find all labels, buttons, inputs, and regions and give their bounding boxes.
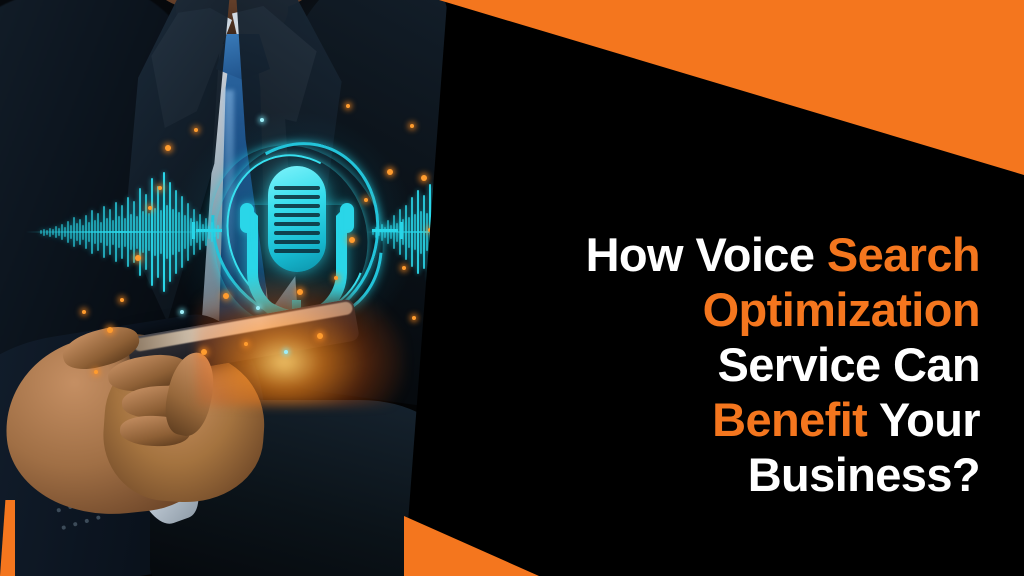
page-title-text: Your <box>867 393 980 446</box>
waveform-bar <box>154 208 156 256</box>
spark-particle <box>284 350 288 354</box>
waveform-bar <box>58 228 60 236</box>
waveform-bar <box>64 227 66 237</box>
waveform-bar <box>381 224 383 241</box>
waveform-bar <box>70 225 72 239</box>
waveform-bar <box>46 230 48 235</box>
spark-particle <box>402 266 406 270</box>
page-title-line-3: Service Can <box>420 338 980 393</box>
waveform-bar <box>115 202 117 262</box>
waveform-bar <box>178 212 180 252</box>
spark-particle <box>256 306 260 310</box>
waveform-bar <box>67 221 69 243</box>
waveform-bar <box>390 225 392 239</box>
spark-particle <box>346 104 350 108</box>
page-title-text: Business? <box>748 448 980 501</box>
waveform-bar <box>181 196 183 268</box>
waveform-bar <box>208 226 210 239</box>
waveform-bar <box>214 228 216 237</box>
waveform-bar <box>52 229 54 235</box>
waveform-bar <box>408 217 410 248</box>
page-title-line-2: Optimization <box>420 283 980 338</box>
audio-waveform-left <box>40 172 219 292</box>
spark-particle <box>201 349 207 355</box>
waveform-bar <box>169 182 171 282</box>
microphone-grill-bar <box>274 213 320 217</box>
spark-particle <box>410 124 414 128</box>
waveform-bar <box>73 217 75 247</box>
waveform-bar <box>49 228 51 237</box>
waveform-bar <box>193 209 195 255</box>
microphone-grill-bar <box>274 195 320 199</box>
waveform-bar <box>139 188 141 276</box>
waveform-bar <box>97 213 99 251</box>
waveform-bar <box>121 205 123 259</box>
waveform-bar <box>85 215 87 249</box>
orange-diagonal-top <box>439 0 1024 175</box>
spark-particle <box>317 333 323 339</box>
waveform-bar <box>417 190 419 274</box>
page-title: How Voice SearchOptimizationService CanB… <box>420 228 980 503</box>
waveform-bar <box>142 211 144 253</box>
waveform-bar <box>375 227 377 238</box>
spark-particle <box>412 316 416 320</box>
waveform-bar <box>94 220 96 244</box>
waveform-bar <box>157 186 159 278</box>
spark-particle <box>165 145 171 151</box>
waveform-bar <box>130 214 132 250</box>
page-title-line-5: Business? <box>420 448 980 503</box>
page-title-line-1: How Voice Search <box>420 228 980 283</box>
waveform-bar <box>372 229 374 235</box>
waveform-bar <box>393 215 395 249</box>
waveform-bar <box>109 209 111 255</box>
waveform-bar <box>91 210 93 254</box>
waveform-bar <box>202 224 204 241</box>
spark-particle <box>364 198 368 202</box>
waveform-bar <box>387 220 389 244</box>
microphone-grill-bar <box>274 249 320 253</box>
microphone-grill-bar <box>274 186 320 190</box>
waveform-bar <box>196 221 198 243</box>
spark-particle <box>421 175 427 181</box>
microphone-icon-post-right <box>340 203 354 233</box>
waveform-bar <box>133 201 135 263</box>
waveform-bar <box>124 218 126 247</box>
spark-particle <box>82 310 86 314</box>
waveform-bar <box>76 223 78 241</box>
spark-particle <box>297 289 303 295</box>
spark-particle <box>148 206 152 210</box>
spark-particle <box>107 327 113 333</box>
spark-particle <box>349 237 355 243</box>
page-title-text: How Voice <box>586 228 827 281</box>
waveform-bar <box>184 215 186 249</box>
waveform-bar <box>145 194 147 270</box>
waveform-bar <box>40 230 42 234</box>
waveform-bar <box>148 213 150 251</box>
spark-particle <box>387 169 393 175</box>
spark-particle <box>223 293 229 299</box>
spark-particle <box>260 118 264 122</box>
waveform-bar <box>136 216 138 249</box>
spark-particle <box>244 342 248 346</box>
waveform-bar <box>414 214 416 250</box>
microphone-grill-bar <box>274 204 320 208</box>
waveform-bar <box>190 218 192 246</box>
page-title-highlight: Optimization <box>703 283 980 336</box>
page-title-highlight: Benefit <box>712 393 867 446</box>
microphone-icon-grill <box>274 186 320 258</box>
waveform-bar <box>396 223 398 242</box>
waveform-bar <box>166 205 168 259</box>
waveform-bar <box>199 214 201 250</box>
waveform-bar <box>160 210 162 254</box>
waveform-bar <box>88 222 90 242</box>
waveform-bar <box>118 216 120 248</box>
waveform-bar <box>163 172 165 292</box>
waveform-bar <box>100 222 102 243</box>
hero-photo <box>0 0 470 576</box>
microphone-grill-bar <box>274 231 320 235</box>
banner: How Voice SearchOptimizationService CanB… <box>0 0 1024 576</box>
spark-particle <box>135 255 141 261</box>
microphone-grill-bar <box>274 222 320 226</box>
waveform-bar <box>405 205 407 260</box>
waveform-bar <box>175 190 177 274</box>
spark-particle <box>158 186 162 190</box>
waveform-bar <box>399 209 401 255</box>
waveform-bar <box>61 224 63 240</box>
page-title-line-4: Benefit Your <box>420 393 980 448</box>
spark-particle <box>180 310 184 314</box>
spark-particle <box>94 370 98 374</box>
waveform-bar <box>384 227 386 238</box>
waveform-bar <box>211 222 213 242</box>
waveform-bar <box>79 219 81 245</box>
spark-particle <box>334 276 338 280</box>
waveform-bar <box>402 219 404 245</box>
microphone-icon-post-left <box>240 203 254 233</box>
waveform-bar <box>55 226 57 238</box>
waveform-bar <box>217 225 219 239</box>
waveform-bar <box>187 203 189 261</box>
waveform-bar <box>106 218 108 246</box>
spark-particle <box>194 128 198 132</box>
waveform-bar <box>378 229 380 236</box>
waveform-bar <box>112 220 114 245</box>
waveform-bar <box>103 206 105 258</box>
spark-particle <box>120 298 124 302</box>
page-title-text: Service Can <box>717 338 980 391</box>
waveform-bar <box>172 209 174 255</box>
waveform-bar <box>151 178 153 286</box>
waveform-bar <box>127 197 129 267</box>
waveform-bar <box>411 197 413 267</box>
waveform-bar <box>205 218 207 246</box>
microphone-grill-bar <box>274 240 320 244</box>
page-title-highlight: Search <box>827 228 980 281</box>
waveform-bar <box>43 229 45 236</box>
waveform-bar <box>82 225 84 240</box>
